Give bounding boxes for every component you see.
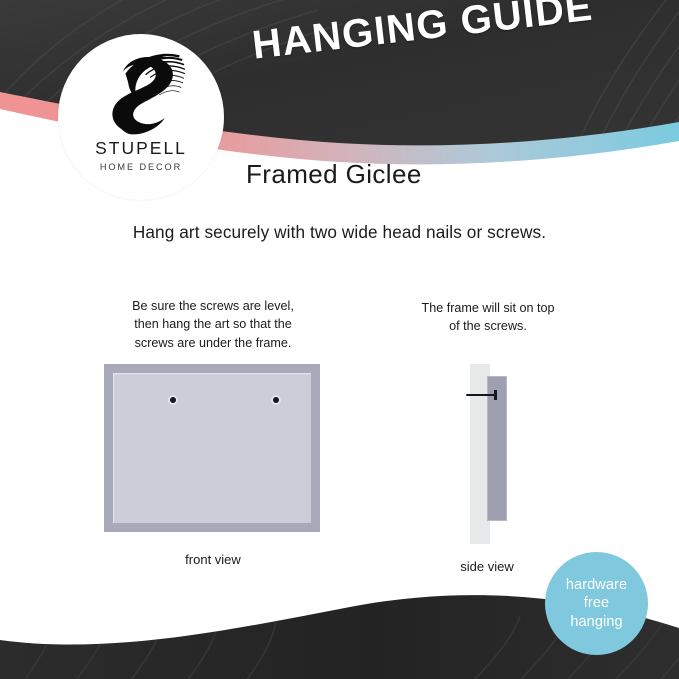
side-view-note: The frame will sit on top of the screws. (395, 299, 581, 336)
frame-art-panel (113, 373, 311, 523)
product-subtitle: Framed Giclee (246, 159, 422, 190)
stupell-logo-badge: STUPELL HOME DECOR (58, 34, 224, 200)
hardware-free-hanging-badge: hardware free hanging (545, 552, 648, 655)
front-view-caption: front view (113, 552, 313, 567)
side-view-diagram (462, 364, 532, 544)
stupell-swoosh-logo-icon (95, 50, 187, 136)
frame-profile (487, 376, 507, 521)
screw-head (494, 390, 497, 400)
screw-dot-right (273, 397, 279, 403)
badge-line-2: free (584, 594, 609, 613)
badge-line-3: hanging (570, 613, 622, 632)
side-view-caption: side view (408, 559, 566, 574)
screw-shaft (466, 394, 496, 396)
hanging-guide-page: STUPELL HOME DECOR HANGING GUIDE Framed … (0, 0, 679, 679)
front-view-note: Be sure the screws are level, then hang … (100, 297, 326, 352)
page-title: HANGING GUIDE (250, 0, 595, 69)
logo-subword: HOME DECOR (100, 162, 182, 172)
lead-instruction: Hang art securely with two wide head nai… (0, 222, 679, 243)
screw-dot-left (170, 397, 176, 403)
logo-wordmark: STUPELL (95, 138, 187, 159)
front-view-diagram (104, 364, 320, 532)
badge-line-1: hardware (566, 576, 627, 595)
